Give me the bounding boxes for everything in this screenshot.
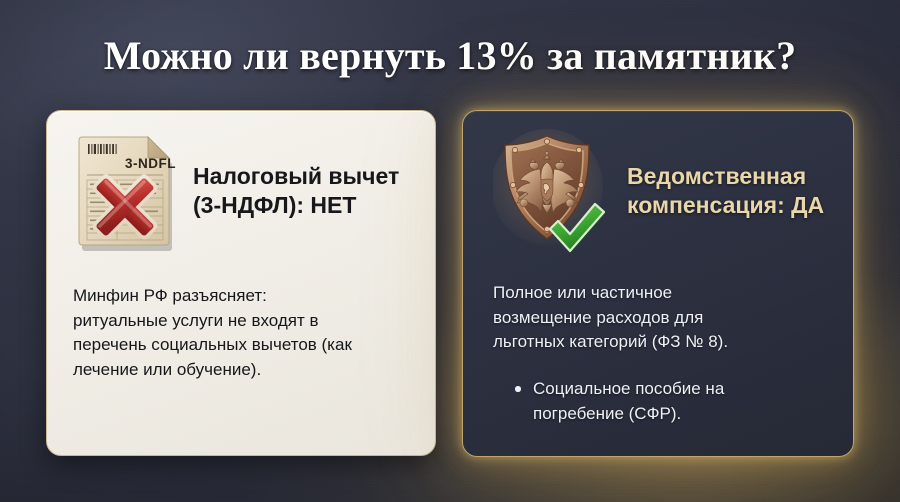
state-emblem-shield-approved-icon [493,129,605,253]
card-right-heading: Ведомственная компенсация: ДА [627,162,824,220]
list-item: Социальное пособие на погребение (СФР). [511,377,841,426]
card-tax-deduction: 3-NDFL [46,110,436,456]
slide-root: Можно ли вернуть 13% за памятник? [0,0,900,502]
card-right-body-text: Полное или частичное возмещение расходов… [493,281,841,355]
tax-form-3ndfl-rejected-icon: 3-NDFL [73,131,177,251]
card-agency-compensation: Ведомственная компенсация: ДА Полное или… [462,110,854,457]
card-right-header: Ведомственная компенсация: ДА [493,129,824,253]
slide-title: Можно ли вернуть 13% за памятник? [0,33,900,79]
card-left-body-text: Минфин РФ разъясняет: ритуальные услуги … [73,284,421,382]
card-left-heading: Налоговый вычет (3-НДФЛ): НЕТ [193,162,399,220]
card-right-bullet-list: Социальное пособие на погребение (СФР). [511,377,841,426]
card-left-header: 3-NDFL [73,131,399,251]
tax-form-label: 3-NDFL [125,156,176,171]
